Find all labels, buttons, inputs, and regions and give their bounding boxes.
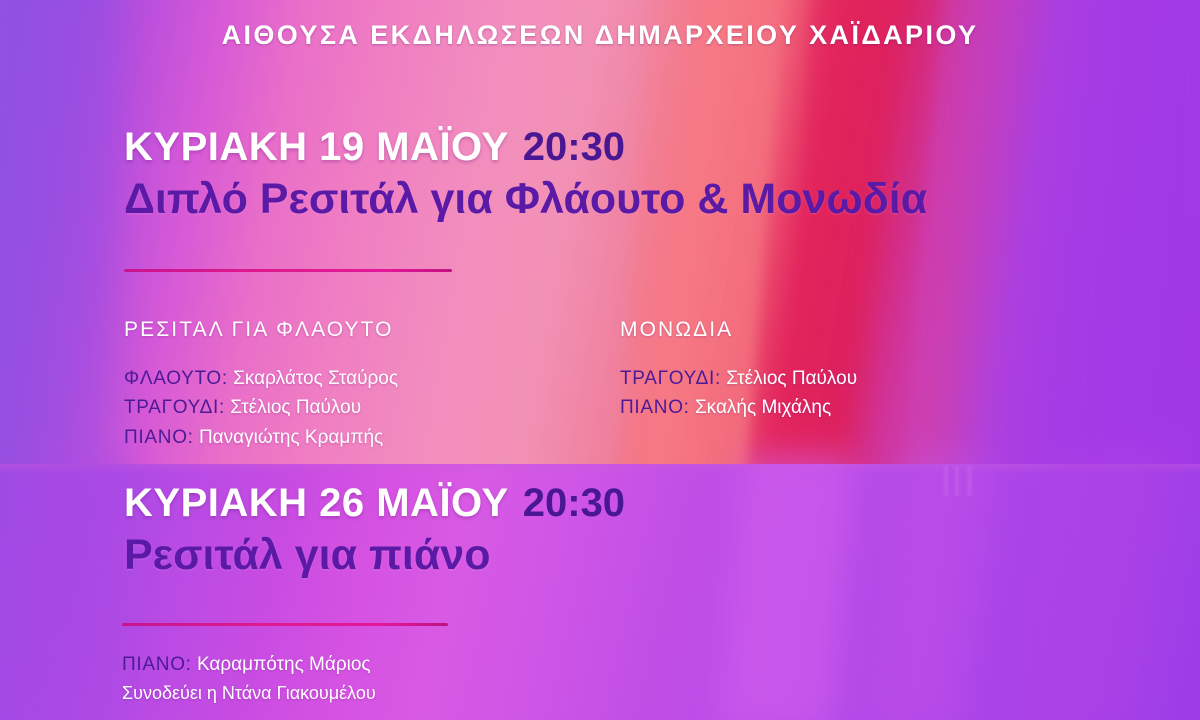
credit-name: Καραμπότης Μάριος [197, 654, 371, 675]
venue-title: ΑΙΘΟΥΣΑ ΕΚΔΗΛΩΣΕΩΝ ΔΗΜΑΡΧΕΙΟΥ ΧΑΪΔΑΡΙΟΥ [0, 20, 1200, 51]
credit-label: ΤΡΑΓΟΥΔΙ: [124, 397, 225, 418]
credit-row: ΠΙΑΝΟ: Σκαλής Μιχάλης [620, 393, 857, 422]
credit-name: Στέλιος Παύλου [726, 368, 857, 389]
column-heading-monody: ΜΟΝΩΔΙΑ [620, 318, 857, 342]
poster-content: ΑΙΘΟΥΣΑ ΕΚΔΗΛΩΣΕΩΝ ΔΗΜΑΡΧΕΙΟΥ ΧΑΪΔΑΡΙΟΥ … [0, 0, 1200, 720]
column-monody: ΜΟΝΩΔΙΑ ΤΡΑΓΟΥΔΙ: Στέλιος Παύλου ΠΙΑΝΟ: … [620, 318, 857, 423]
credit-name: Παναγιώτης Κραμπής [199, 427, 383, 448]
divider-rule-2 [122, 623, 448, 626]
credit-label: ΠΙΑΝΟ: [124, 427, 194, 448]
event-2-time: 20:30 [523, 481, 625, 525]
event-block-2: ΚΥΡΙΑΚΗ 26 ΜΑΪΟΥ20:30 Ρεσιτάλ για πιάνο [124, 482, 625, 578]
event-1-datetime: ΚΥΡΙΑΚΗ 19 ΜΑΪΟΥ20:30 [124, 126, 927, 168]
event-1-date: ΚΥΡΙΑΚΗ 19 ΜΑΪΟΥ [124, 125, 509, 169]
credit-row: ΤΡΑΓΟΥΔΙ: Στέλιος Παύλου [124, 393, 398, 422]
credit-name: Στέλιος Παύλου [230, 397, 361, 418]
event-2-date: ΚΥΡΙΑΚΗ 26 ΜΑΪΟΥ [124, 481, 509, 525]
event-2-title: Ρεσιτάλ για πιάνο [124, 532, 625, 578]
column-flute-recital: ΡΕΣΙΤΑΛ ΓΙΑ ΦΛΑΟΥΤΟ ΦΛΑΟΥΤΟ: Σκαρλάτος Σ… [124, 318, 398, 452]
event-2-datetime: ΚΥΡΙΑΚΗ 26 ΜΑΪΟΥ20:30 [124, 482, 625, 524]
credits-list-monody: ΤΡΑΓΟΥΔΙ: Στέλιος Παύλου ΠΙΑΝΟ: Σκαλής Μ… [620, 364, 857, 423]
column-heading-flute: ΡΕΣΙΤΑΛ ΓΙΑ ΦΛΑΟΥΤΟ [124, 318, 398, 342]
credit-row: ΦΛΑΟΥΤΟ: Σκαρλάτος Σταύρος [124, 364, 398, 393]
credit-label: ΠΙΑΝΟ: [122, 654, 192, 675]
concert-poster: ΑΙΘΟΥΣΑ ΕΚΔΗΛΩΣΕΩΝ ΔΗΜΑΡΧΕΙΟΥ ΧΑΪΔΑΡΙΟΥ … [0, 0, 1200, 720]
event-2-credits: ΠΙΑΝΟ: Καραμπότης Μάριος Συνοδεύει η Ντά… [122, 650, 376, 708]
event-2-accompaniment-note: Συνοδεύει η Ντάνα Γιακουμέλου [122, 679, 376, 708]
divider-rule-1 [124, 269, 452, 272]
event-1-time: 20:30 [523, 125, 625, 169]
credit-label: ΦΛΑΟΥΤΟ: [124, 368, 228, 389]
event-1-title: Διπλό Ρεσιτάλ για Φλάουτο & Μονωδία [124, 176, 927, 222]
credit-row: ΠΙΑΝΟ: Καραμπότης Μάριος [122, 650, 376, 679]
credit-name: Σκαρλάτος Σταύρος [233, 368, 398, 389]
credit-label: ΠΙΑΝΟ: [620, 397, 690, 418]
event-block-1: ΚΥΡΙΑΚΗ 19 ΜΑΪΟΥ20:30 Διπλό Ρεσιτάλ για … [124, 126, 927, 222]
credit-name: Σκαλής Μιχάλης [695, 397, 831, 418]
credit-row: ΤΡΑΓΟΥΔΙ: Στέλιος Παύλου [620, 364, 857, 393]
credit-label: ΤΡΑΓΟΥΔΙ: [620, 368, 721, 389]
credits-list-flute: ΦΛΑΟΥΤΟ: Σκαρλάτος Σταύρος ΤΡΑΓΟΥΔΙ: Στέ… [124, 364, 398, 452]
credit-row: ΠΙΑΝΟ: Παναγιώτης Κραμπής [124, 423, 398, 452]
